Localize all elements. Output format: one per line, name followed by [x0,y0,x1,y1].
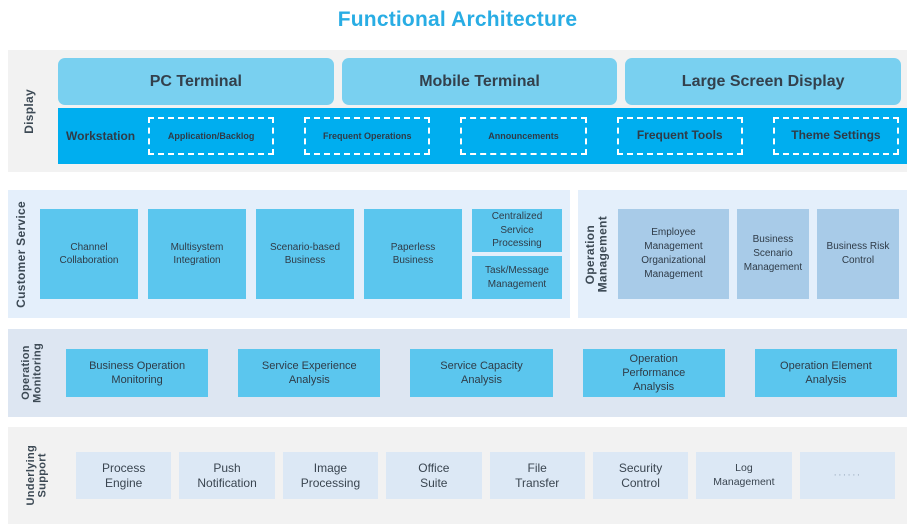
underlying-support-body: Process Engine Push Notification Image P… [68,427,907,524]
page-title: Functional Architecture [0,8,915,32]
operation-monitoring-panel: Operation Monitoring Business Operation … [8,329,907,417]
customer-service-panel: Customer Service Channel Collaboration M… [8,190,570,318]
display-layer-body: PC Terminal Mobile Terminal Large Screen… [50,50,907,172]
operation-management-label-text: Operation Management [584,216,609,292]
customer-service-label: Customer Service [8,190,34,318]
sup-box-more-ellipsis: ······ [800,452,895,499]
operation-management-panel: Operation Management Employee Management… [578,190,907,318]
operation-management-label: Operation Management [578,190,616,318]
om-box-employee-management[interactable]: Employee Management Organizational Manag… [618,209,729,299]
cs-box-stack: Centralized Service Processing Task/Mess… [472,209,562,299]
cs-box-centralized-service-processing[interactable]: Centralized Service Processing [472,209,562,252]
workstation-item-theme-settings[interactable]: Theme Settings [773,117,899,155]
workstation-item-frequent-tools[interactable]: Frequent Tools [617,117,743,155]
sup-box-log-management[interactable]: Log Management [696,452,791,499]
operation-monitoring-label-text: Operation Monitoring [21,343,44,403]
om-box-business-risk-control[interactable]: Business Risk Control [817,209,899,299]
mon-box-business-operation-monitoring[interactable]: Business Operation Monitoring [66,349,208,397]
operation-monitoring-label: Operation Monitoring [8,329,58,417]
workstation-row: Workstation Application/Backlog Frequent… [58,108,907,164]
cs-box-scenario-based-business[interactable]: Scenario-based Business [256,209,354,299]
terminal-row: PC Terminal Mobile Terminal Large Screen… [58,58,901,105]
customer-service-body: Channel Collaboration Multisystem Integr… [34,190,570,318]
sup-box-office-suite[interactable]: Office Suite [386,452,481,499]
functional-architecture-diagram: Functional Architecture Display PC Termi… [0,0,915,532]
cs-box-paperless-business[interactable]: Paperless Business [364,209,462,299]
display-layer-label: Display [8,50,50,172]
workstation-item-application-backlog[interactable]: Application/Backlog [148,117,274,155]
terminal-pc[interactable]: PC Terminal [58,58,334,105]
sup-box-process-engine[interactable]: Process Engine [76,452,171,499]
sup-box-security-control[interactable]: Security Control [593,452,688,499]
sup-box-file-transfer[interactable]: File Transfer [490,452,585,499]
mon-box-operation-element-analysis[interactable]: Operation Element Analysis [755,349,897,397]
workstation-item-frequent-operations[interactable]: Frequent Operations [304,117,430,155]
cs-box-multisystem-integration[interactable]: Multisystem Integration [148,209,246,299]
terminal-large-screen[interactable]: Large Screen Display [625,58,901,105]
underlying-support-label-text: Underlying Support [26,445,49,505]
mon-box-service-capacity-analysis[interactable]: Service Capacity Analysis [410,349,552,397]
workstation-items: Application/Backlog Frequent Operations … [148,117,907,155]
sup-box-push-notification[interactable]: Push Notification [179,452,274,499]
terminal-mobile[interactable]: Mobile Terminal [342,58,618,105]
display-layer-label-text: Display [23,89,36,134]
cs-box-channel-collaboration[interactable]: Channel Collaboration [40,209,138,299]
operation-monitoring-body: Business Operation Monitoring Service Ex… [58,329,907,417]
workstation-item-announcements[interactable]: Announcements [460,117,586,155]
display-layer-panel: Display PC Terminal Mobile Terminal Larg… [8,50,907,172]
customer-service-label-text: Customer Service [15,201,28,308]
mon-box-service-experience-analysis[interactable]: Service Experience Analysis [238,349,380,397]
cs-box-task-message-management[interactable]: Task/Message Management [472,256,562,299]
underlying-support-label: Underlying Support [8,427,68,524]
operation-management-body: Employee Management Organizational Manag… [616,190,907,318]
workstation-label: Workstation [64,129,148,143]
mon-box-operation-performance-analysis[interactable]: Operation Performance Analysis [583,349,725,397]
underlying-support-panel: Underlying Support Process Engine Push N… [8,427,907,524]
om-box-business-scenario-management[interactable]: Business Scenario Management [737,209,809,299]
sup-box-image-processing[interactable]: Image Processing [283,452,378,499]
